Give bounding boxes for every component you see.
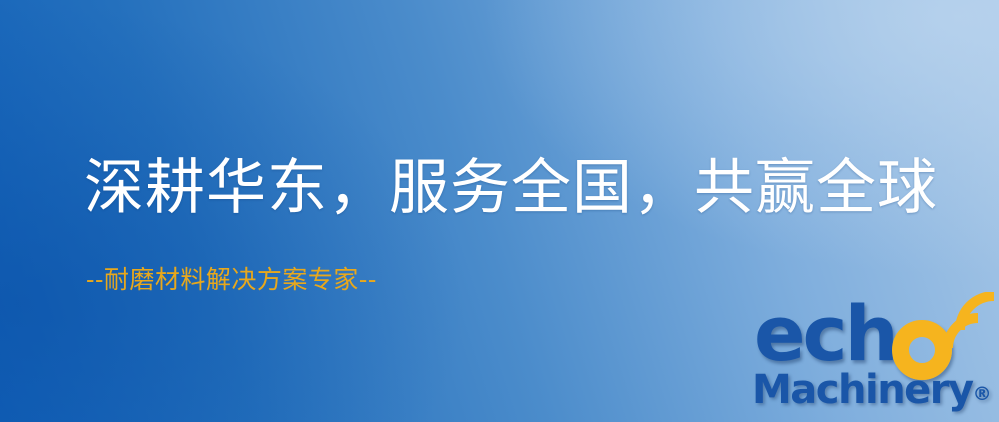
logo-wordmark: ech: [752, 300, 994, 374]
banner-subtitle: --耐磨材料解决方案专家--: [86, 264, 377, 296]
company-logo: ech Machinery®: [752, 300, 994, 418]
logo-wordmark-text: ech: [754, 296, 896, 372]
logo-tagline-text: Machinery: [752, 367, 973, 413]
logo-tagline: Machinery®: [752, 368, 992, 416]
banner-headline: 深耕华东，服务全国，共赢全球: [84, 152, 938, 224]
promotional-banner: 深耕华东，服务全国，共赢全球 --耐磨材料解决方案专家-- ech Machin…: [0, 0, 999, 422]
signal-arcs-icon: [938, 292, 999, 358]
registered-trademark-icon: ®: [973, 383, 992, 405]
